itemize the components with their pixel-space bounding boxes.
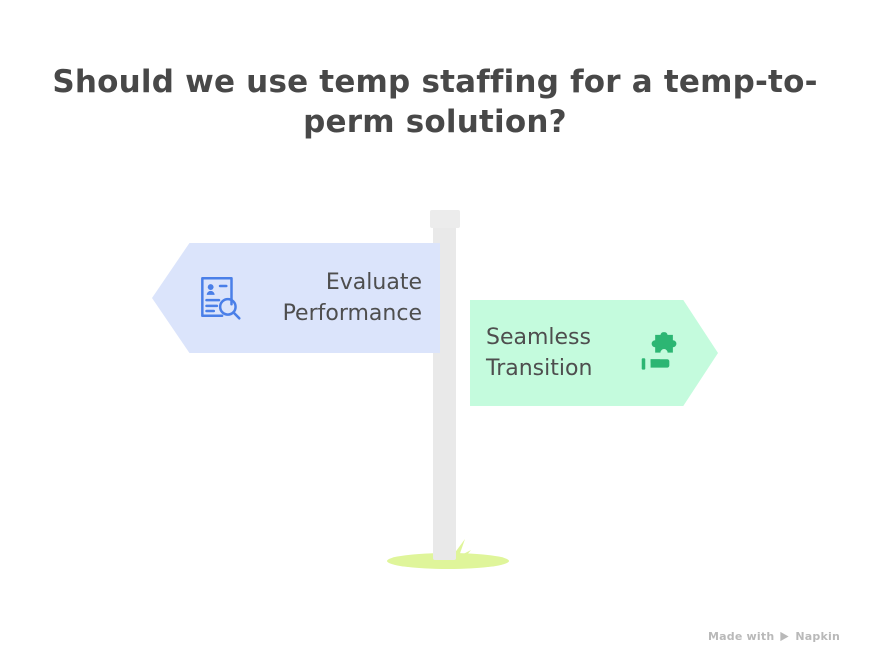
napkin-watermark: Made with Napkin (708, 630, 840, 643)
sign-seamless-transition-label: Seamless Transition (486, 322, 592, 384)
sign-evaluate-performance-label: Evaluate Performance (283, 267, 422, 329)
sign-seamless-transition[interactable]: Seamless Transition (470, 300, 718, 406)
signpost-pole-cap (430, 210, 460, 228)
sign-evaluate-performance[interactable]: Evaluate Performance (152, 243, 440, 353)
resume-review-icon (194, 273, 244, 323)
napkin-logo-icon (779, 631, 790, 642)
watermark-text: Made with (708, 630, 774, 643)
puzzle-piece-icon (636, 328, 686, 378)
watermark-brand: Napkin (795, 630, 840, 643)
